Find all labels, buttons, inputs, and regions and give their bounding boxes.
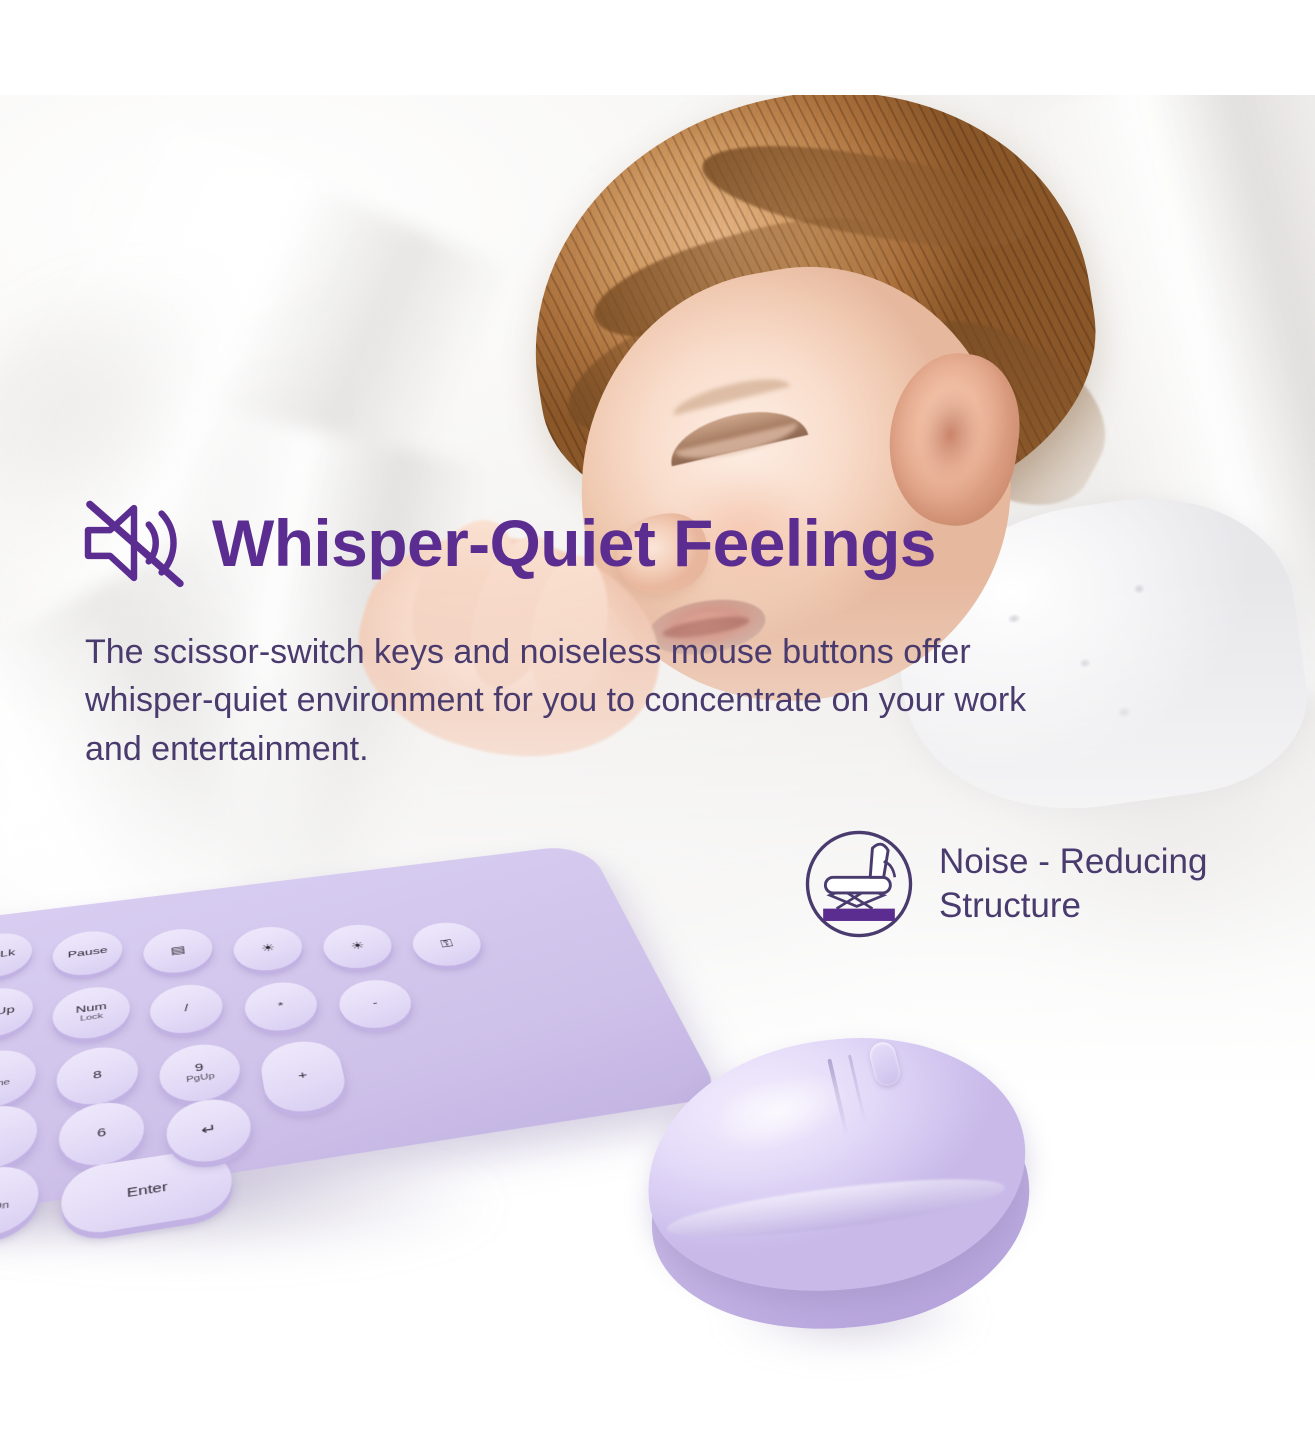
key--[interactable]: * xyxy=(241,978,321,1035)
key--[interactable]: - xyxy=(334,976,417,1033)
key-sublabel: PgUp xyxy=(186,1072,215,1084)
scissor-switch-key-icon xyxy=(803,828,915,940)
key-label: - xyxy=(372,998,379,1009)
brightness-up-icon[interactable]: ☀ xyxy=(319,921,398,972)
mouse-product-image xyxy=(640,1020,1060,1350)
badge-line-1: Noise - Reducing xyxy=(939,840,1207,884)
key-label: / xyxy=(184,1003,189,1014)
lock-icon[interactable]: ⚿ xyxy=(407,919,488,970)
calculator-icon[interactable]: ▤ xyxy=(142,925,215,977)
key-pgup[interactable]: PgUp xyxy=(0,984,33,1041)
key-9[interactable]: 9PgUp xyxy=(157,1040,244,1107)
feature-badge-text: Noise - Reducing Structure xyxy=(939,840,1207,929)
keyboard-product-image: PrtScnScrLkPauseInsertHomePgUpDeleteEndP… xyxy=(0,800,750,1320)
key-label: ScrLk xyxy=(0,948,15,962)
key-label: 6 xyxy=(97,1126,107,1140)
key-pause[interactable]: Pause xyxy=(53,927,124,979)
key-label: + xyxy=(297,1069,308,1081)
key-glyph: ☀ xyxy=(349,940,366,952)
key-label: * xyxy=(277,1001,285,1012)
key-8[interactable]: 8 xyxy=(57,1043,140,1110)
key--[interactable]: + xyxy=(257,1037,350,1117)
key-sublabel: PgDn xyxy=(0,1200,9,1215)
product-feature-banner: Whisper-Quiet Feelings The scissor-switc… xyxy=(0,0,1315,1440)
key-label: Enter xyxy=(127,1181,169,1201)
brightness-down-icon[interactable]: ☀ xyxy=(231,923,307,974)
speaker-mute-icon xyxy=(78,497,190,589)
key-scrlk[interactable]: ScrLk xyxy=(0,930,32,982)
key-glyph: ⚿ xyxy=(439,938,454,950)
key-glyph: ▤ xyxy=(170,944,186,956)
badge-line-2: Structure xyxy=(939,884,1207,928)
key-label: 8 xyxy=(93,1069,102,1081)
key-sublabel: Home xyxy=(0,1078,10,1091)
key-5[interactable]: 5 xyxy=(0,1101,37,1175)
key-label: PgUp xyxy=(0,1005,15,1020)
key-num[interactable]: NumLock xyxy=(53,983,132,1043)
hero-description: The scissor-switch keys and noiseless mo… xyxy=(85,628,1065,773)
page-title: Whisper-Quiet Feelings xyxy=(212,510,936,576)
key-7[interactable]: 7Home xyxy=(0,1046,36,1114)
key-glyph: ↵ xyxy=(200,1122,217,1138)
key-label: Pause xyxy=(68,946,108,960)
key-sublabel: Lock xyxy=(80,1012,103,1023)
feature-badge: Noise - Reducing Structure xyxy=(803,828,1207,940)
key-glyph: ☀ xyxy=(260,942,276,954)
key--[interactable]: / xyxy=(148,981,226,1038)
headline-row: Whisper-Quiet Feelings xyxy=(78,497,936,589)
